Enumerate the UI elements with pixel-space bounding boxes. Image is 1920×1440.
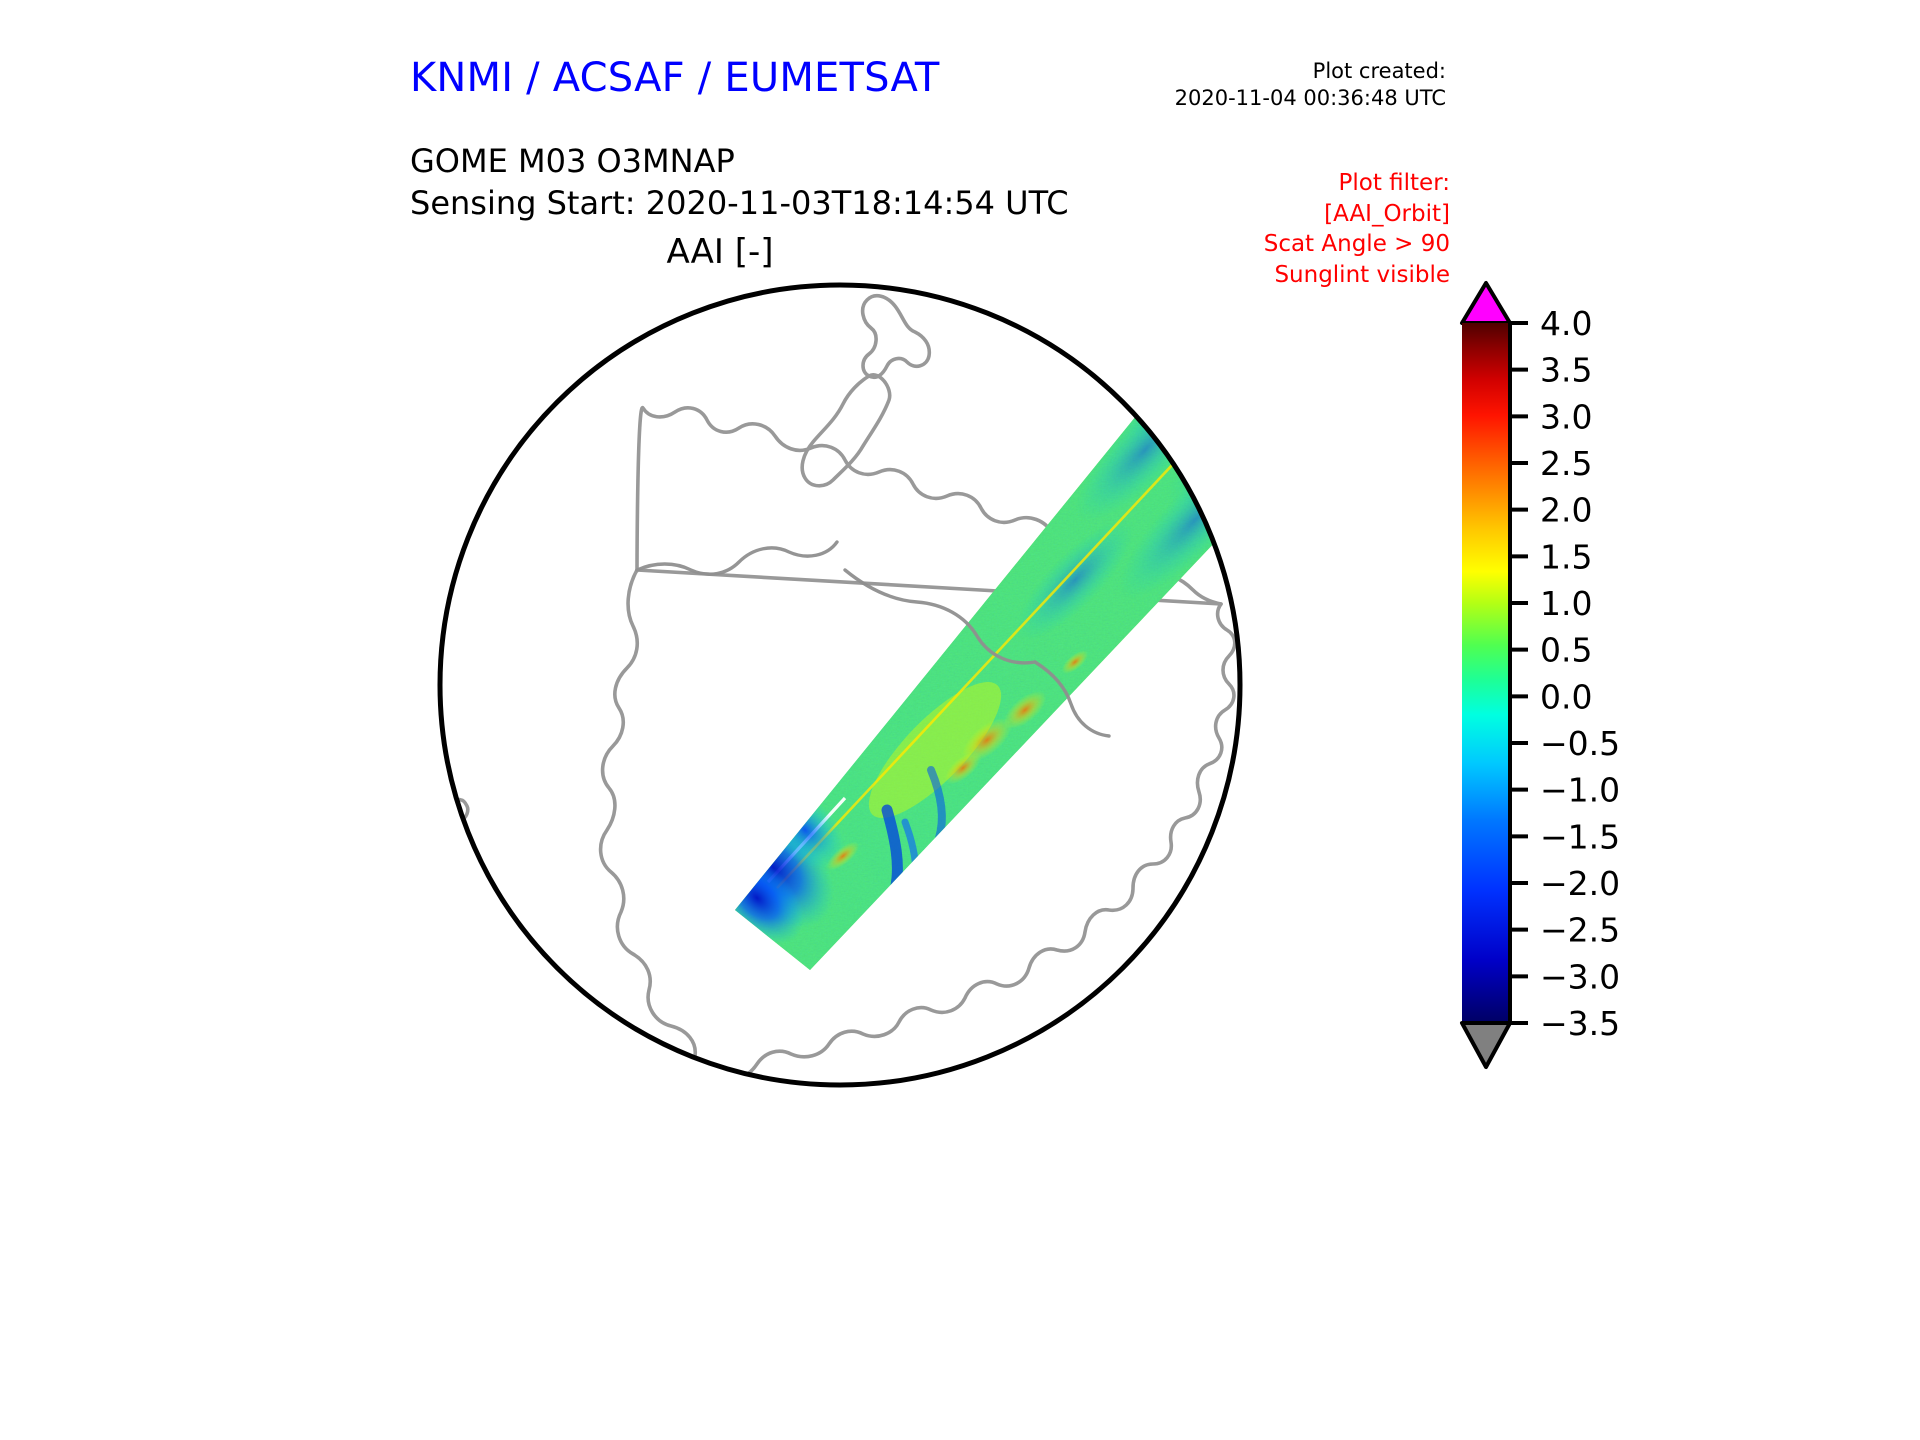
colorbar-over-arrow xyxy=(1462,283,1510,323)
colorbar-gradient[interactable] xyxy=(1462,323,1510,1023)
colorbar-tick-label: −3.5 xyxy=(1540,1004,1620,1043)
polar-stereographic-map xyxy=(375,270,1305,1100)
colorbar-tick-label: 3.5 xyxy=(1540,351,1592,390)
colorbar-tick-label: 1.5 xyxy=(1540,537,1592,576)
colorbar-tick-label: −2.5 xyxy=(1540,911,1620,950)
colorbar-tick-label: 2.0 xyxy=(1540,491,1592,530)
product-info-block: GOME M03 O3MNAP Sensing Start: 2020-11-0… xyxy=(410,140,1069,224)
plot-page: KNMI / ACSAF / EUMETSAT Plot created: 20… xyxy=(0,0,1920,1440)
colorbar-ticks: 4.03.53.02.52.01.51.00.50.0−0.5−1.0−1.5−… xyxy=(1510,304,1620,1043)
colorbar-tick-label: −3.0 xyxy=(1540,957,1620,996)
colorbar-panel[interactable]: 4.03.53.02.52.01.51.00.50.0−0.5−1.0−1.5−… xyxy=(1440,275,1740,1095)
colorbar-tick-label: −0.5 xyxy=(1540,724,1620,763)
sensing-start: Sensing Start: 2020-11-03T18:14:54 UTC xyxy=(410,182,1069,224)
plot-created-label: Plot created: xyxy=(1175,58,1446,85)
plot-created-timestamp: 2020-11-04 00:36:48 UTC xyxy=(1175,85,1446,112)
plot-created-block: Plot created: 2020-11-04 00:36:48 UTC xyxy=(1175,58,1446,112)
colorbar-tick-label: 0.5 xyxy=(1540,631,1592,670)
colorbar-tick-label: 0.0 xyxy=(1540,677,1592,716)
colorbar-tick-label: −2.0 xyxy=(1540,864,1620,903)
map-panel xyxy=(375,270,1305,1100)
colorbar-tick-label: −1.5 xyxy=(1540,817,1620,856)
colorbar-tick-label: 2.5 xyxy=(1540,444,1592,483)
coastline-patagonia-coast xyxy=(1158,966,1194,1100)
globe-disc xyxy=(440,285,1240,1085)
colorbar[interactable]: 4.03.53.02.52.01.51.00.50.0−0.5−1.0−1.5−… xyxy=(1440,275,1740,1095)
coastline-island-kerguelen xyxy=(529,348,565,382)
variable-title: AAI [-] xyxy=(0,232,1440,272)
colorbar-tick-label: −1.0 xyxy=(1540,771,1620,810)
colorbar-under-arrow xyxy=(1462,1023,1510,1067)
colorbar-tick-label: 4.0 xyxy=(1540,304,1592,343)
organisation-title: KNMI / ACSAF / EUMETSAT xyxy=(410,55,940,101)
product-name: GOME M03 O3MNAP xyxy=(410,140,1069,182)
plot-filter-scat-angle: Scat Angle > 90 xyxy=(1264,229,1450,260)
plot-filter-label: Plot filter: xyxy=(1264,168,1450,199)
colorbar-tick-label: 1.0 xyxy=(1540,584,1592,623)
plot-filter-name: [AAI_Orbit] xyxy=(1264,199,1450,230)
colorbar-tick-label: 3.0 xyxy=(1540,397,1592,436)
